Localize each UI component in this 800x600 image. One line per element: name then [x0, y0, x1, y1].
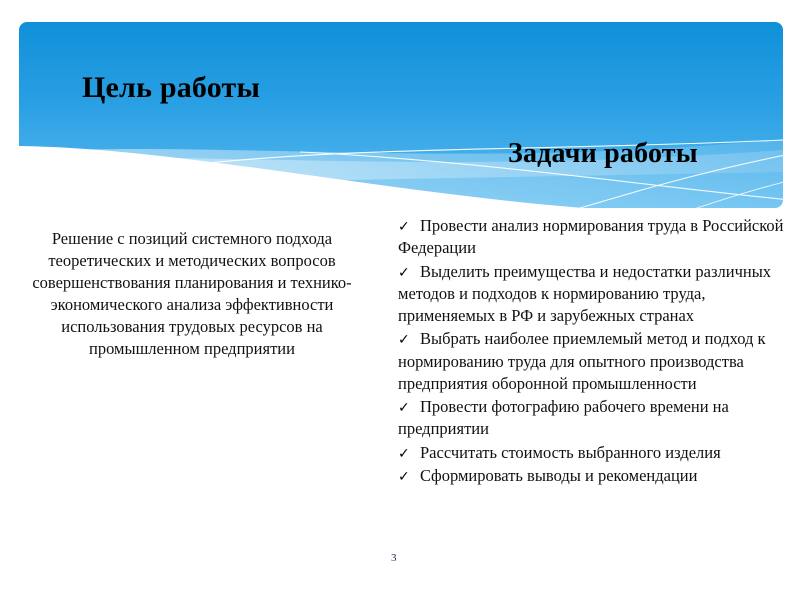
- list-item: ✓Сформировать выводы и рекомендации: [398, 465, 790, 487]
- header-banner-decoration: [0, 0, 800, 230]
- list-item-label: Провести анализ нормирования труда в Рос…: [398, 216, 784, 257]
- list-item-label: Выбрать наиболее приемлемый метод и подх…: [398, 329, 766, 393]
- list-item: ✓Провести фотографию рабочего времени на…: [398, 396, 790, 441]
- list-item-label: Провести фотографию рабочего времени на …: [398, 397, 729, 438]
- list-item-label: Выделить преимущества и недостатки разли…: [398, 262, 771, 326]
- list-item: ✓Выделить преимущества и недостатки разл…: [398, 261, 790, 328]
- checkmark-icon: ✓: [398, 218, 420, 237]
- slide-number: 3: [391, 552, 397, 564]
- checkmark-icon: ✓: [398, 445, 420, 464]
- tasks-title: Задачи работы: [508, 138, 698, 170]
- list-item-label: Сформировать выводы и рекомендации: [420, 466, 697, 485]
- checkmark-icon: ✓: [398, 468, 420, 487]
- tasks-list: ✓Провести анализ нормирования труда в Ро…: [398, 215, 790, 488]
- list-item: ✓Выбрать наиболее приемлемый метод и под…: [398, 328, 790, 395]
- checkmark-icon: ✓: [398, 331, 420, 350]
- list-item: ✓Провести анализ нормирования труда в Ро…: [398, 215, 790, 260]
- checkmark-icon: ✓: [398, 264, 420, 283]
- presentation-slide: Цель работы Задачи работы Решение с пози…: [0, 0, 800, 600]
- goal-body-text: Решение с позиций системного подхода тео…: [32, 228, 352, 360]
- checkmark-icon: ✓: [398, 399, 420, 418]
- list-item: ✓Рассчитать стоимость выбранного изделия: [398, 442, 790, 464]
- list-item-label: Рассчитать стоимость выбранного изделия: [420, 443, 721, 462]
- goal-title: Цель работы: [82, 71, 260, 105]
